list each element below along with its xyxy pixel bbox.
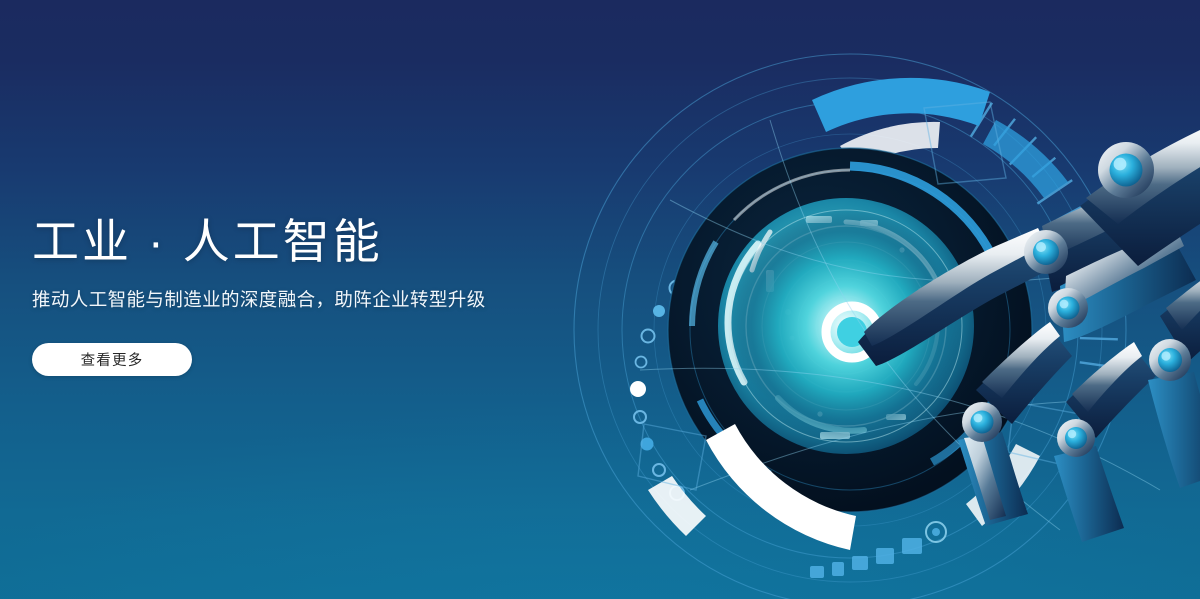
- robotic-hand: [858, 120, 1200, 542]
- glow-core-ring: [826, 306, 878, 358]
- robot-finger-index: [858, 166, 1200, 366]
- hud-circle-robotic-hand-graphic: [520, 0, 1200, 599]
- hud-guide-lines: [640, 120, 1160, 530]
- robot-finger-ring: [958, 322, 1072, 526]
- robot-finger-middle: [1048, 228, 1196, 342]
- hud-rings: [574, 54, 1126, 599]
- page-title: 工业 · 人工智能: [32, 215, 592, 270]
- view-more-button[interactable]: 查看更多: [32, 343, 192, 376]
- hud-outline-shapes: [638, 102, 1080, 490]
- white-accent-arcs: [648, 424, 1040, 550]
- robot-finger-pinky: [1054, 342, 1156, 542]
- hero-subtitle: 推动人工智能与制造业的深度融合，助阵企业转型升级: [32, 287, 592, 313]
- glow-core-halo: [728, 208, 964, 444]
- radial-tick-marks: [971, 103, 1118, 368]
- hud-inner-ticks: [766, 216, 926, 439]
- hud-inner-disc: [718, 198, 974, 454]
- hud-inner-rings: [730, 210, 962, 442]
- glow-core-center: [837, 317, 867, 347]
- robot-finger-thumb: [1148, 258, 1200, 488]
- hero-banner: 工业 · 人工智能 推动人工智能与制造业的深度融合，助阵企业转型升级 查看更多: [0, 0, 1200, 599]
- hud-segment-arcs: [692, 166, 1002, 474]
- hud-bright-arcs: [728, 222, 944, 431]
- dot-sequence: [630, 281, 685, 501]
- cyan-accent-arcs: [691, 184, 853, 504]
- top-accent-arcs: [812, 78, 1068, 198]
- robot-hand-back: [1080, 120, 1200, 266]
- hero-copy-block: 工业 · 人工智能 推动人工智能与制造业的深度融合，助阵企业转型升级 查看更多: [32, 215, 592, 376]
- hud-dark-ring: [668, 148, 1032, 512]
- hud-bottom-blocks: [810, 522, 946, 578]
